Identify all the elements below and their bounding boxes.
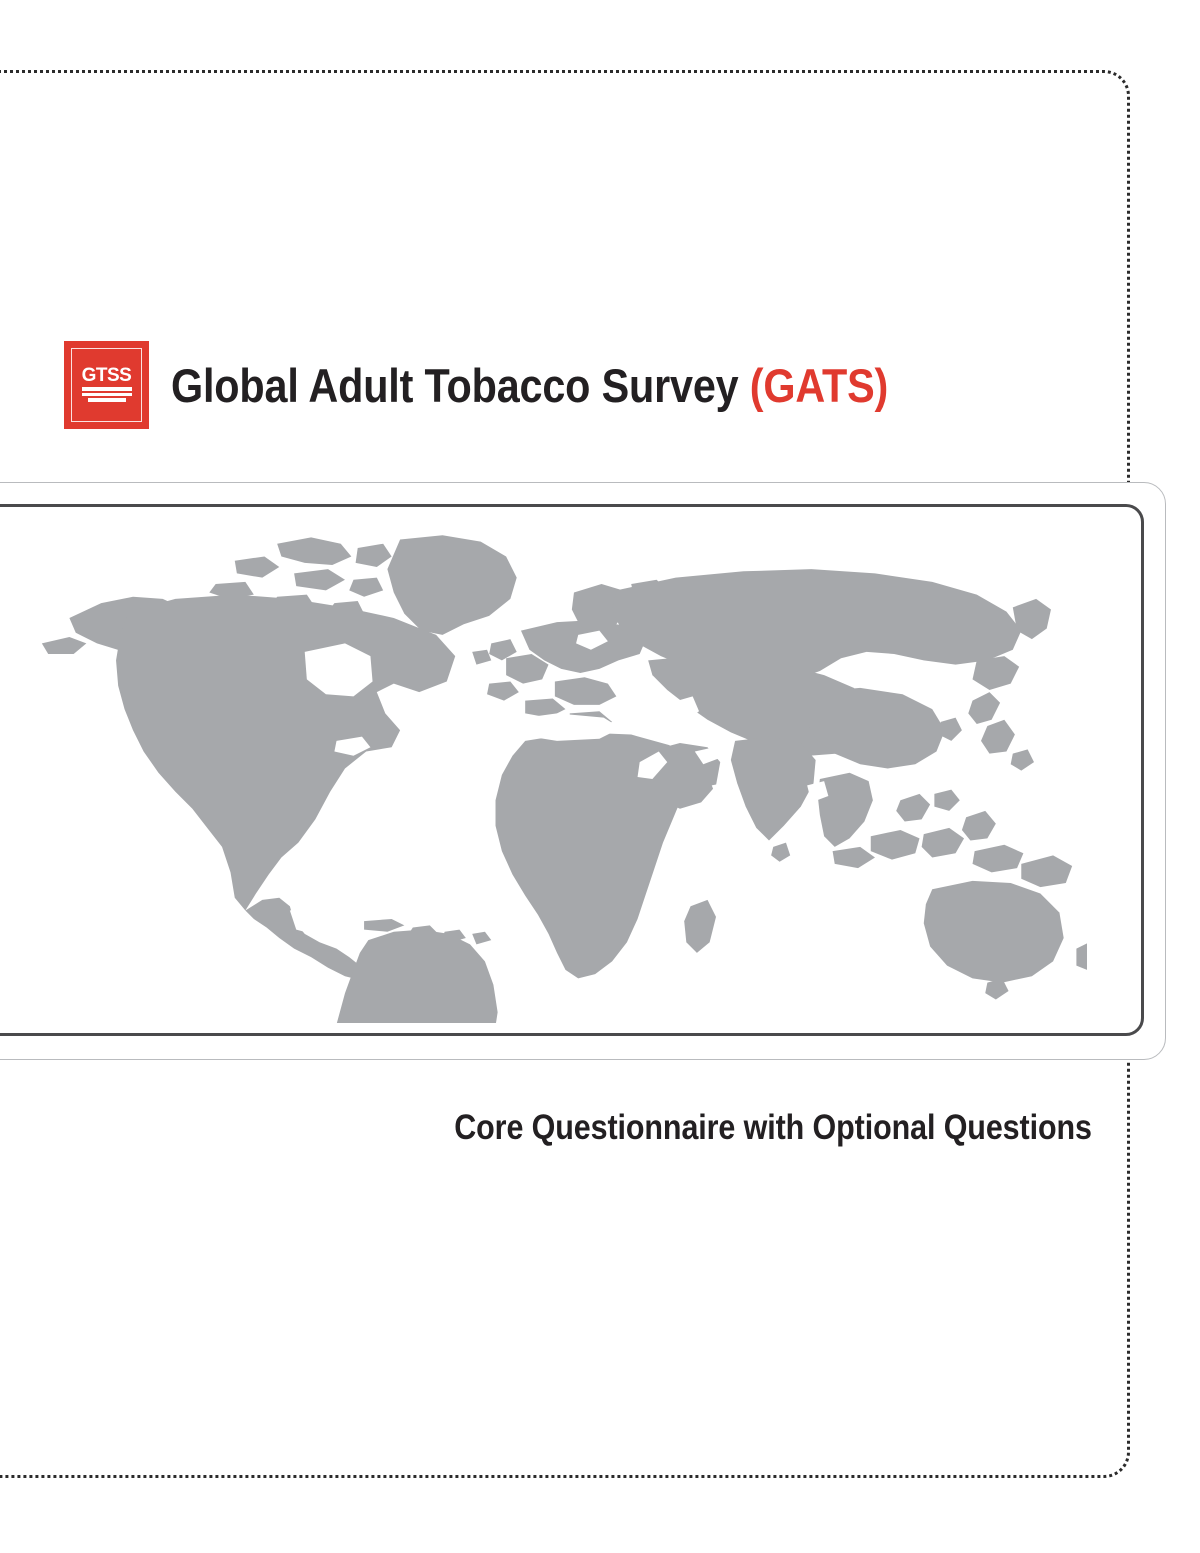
world-map-illustration [0, 507, 1141, 1033]
page-title: Global Adult Tobacco Survey (GATS) [171, 362, 888, 409]
page-subtitle: Core Questionnaire with Optional Questio… [0, 1108, 1092, 1148]
logo-mark: GTSS [64, 366, 149, 404]
logo-text: GTSS [64, 366, 149, 385]
map-panel-inner-frame [0, 504, 1144, 1036]
gtss-logo-icon: GTSS [64, 341, 149, 429]
cover-page: GTSS Global Adult Tobacco Survey (GATS) … [0, 0, 1200, 1553]
page-subtitle-text: Core Questionnaire with Optional Questio… [454, 1108, 1092, 1148]
page-title-main: Global Adult Tobacco Survey [171, 359, 750, 412]
page-title-abbreviation: (GATS) [750, 359, 888, 412]
logo-bars-icon [82, 387, 132, 402]
title-lockup: GTSS Global Adult Tobacco Survey (GATS) [64, 341, 986, 429]
